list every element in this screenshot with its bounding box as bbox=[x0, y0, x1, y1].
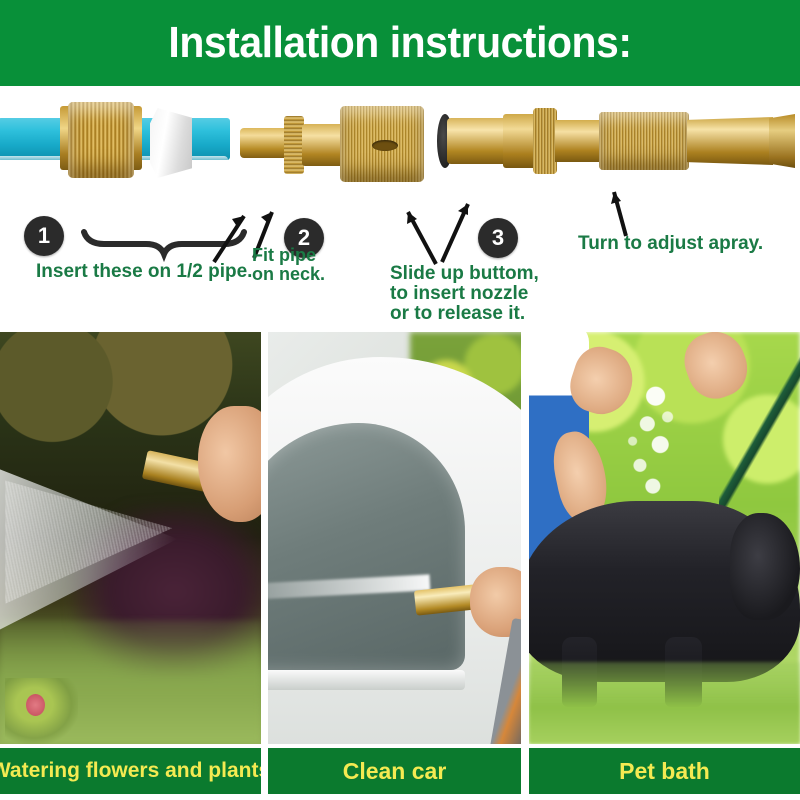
nozzle-adjust-grip bbox=[599, 112, 689, 170]
nozzle-shaft bbox=[555, 120, 603, 162]
photo-clean-car bbox=[268, 332, 521, 744]
step-1-label: Insert these on 1/2 pipe. bbox=[36, 262, 252, 282]
step-badge-3: 3 bbox=[478, 218, 518, 258]
flower-bush bbox=[5, 678, 78, 744]
lawn-grass bbox=[529, 662, 800, 744]
usage-panel-clean-car: Clean car bbox=[268, 332, 521, 800]
brace-icon bbox=[84, 232, 244, 254]
assembly-diagram: 1 2 3 Insert these on 1/2 pipe. Fit pipe… bbox=[0, 86, 800, 330]
brass-quick-connector-illustration bbox=[240, 100, 430, 182]
usage-panel-watering: Watering flowers and plants bbox=[0, 332, 261, 800]
infographic-page: Installation instructions: bbox=[0, 0, 800, 800]
brass-knurled-nut-illustration bbox=[68, 102, 134, 178]
step-3-label-line1: Slide up buttom, bbox=[390, 264, 539, 284]
nozzle-plug bbox=[447, 118, 507, 164]
nozzle-barrel bbox=[687, 117, 773, 165]
step-2-label-line2: on neck. bbox=[252, 265, 325, 284]
photo-watering-flowers bbox=[0, 332, 261, 744]
photo-pet-bath bbox=[529, 332, 800, 744]
caption-clean-car: Clean car bbox=[268, 748, 521, 794]
header-banner: Installation instructions: bbox=[0, 0, 800, 86]
step-2-label-line1: Fit pipe bbox=[252, 246, 325, 265]
adjust-spray-note: Turn to adjust apray. bbox=[578, 234, 763, 254]
connector-slot bbox=[372, 140, 398, 151]
nozzle-tip bbox=[769, 114, 795, 168]
dog-head bbox=[730, 513, 800, 620]
usage-photo-strip: Watering flowers and plants Clean car bbox=[0, 332, 800, 800]
nozzle-step bbox=[503, 114, 537, 168]
car-door-sill bbox=[268, 670, 465, 691]
page-title: Installation instructions: bbox=[168, 18, 631, 68]
arrow-to-adjust-grip-icon bbox=[614, 192, 626, 236]
brass-nozzle-illustration bbox=[437, 104, 797, 178]
caption-watering: Watering flowers and plants bbox=[0, 748, 261, 794]
arrow-to-cone-icon bbox=[214, 216, 244, 262]
white-cone-insert-illustration bbox=[150, 108, 192, 178]
connector-body bbox=[302, 124, 344, 166]
connector-barb bbox=[240, 128, 288, 158]
nozzle-knurled-ring bbox=[533, 108, 557, 174]
step-badge-1: 1 bbox=[24, 216, 64, 256]
caption-pet-bath: Pet bath bbox=[529, 748, 800, 794]
car-window bbox=[268, 423, 465, 670]
usage-panel-pet-bath: Pet bath bbox=[529, 332, 800, 800]
connector-thread-ring bbox=[284, 116, 304, 174]
step-3-label-line2: to insert nozzle bbox=[390, 284, 539, 304]
step-2-label: Fit pipe on neck. bbox=[252, 246, 325, 283]
step-3-label-line3: or to release it. bbox=[390, 304, 539, 324]
step-3-label: Slide up buttom, to insert nozzle or to … bbox=[390, 264, 539, 323]
arrow-to-nozzle-icon bbox=[442, 204, 468, 262]
arrow-to-button-left-icon bbox=[408, 212, 436, 264]
